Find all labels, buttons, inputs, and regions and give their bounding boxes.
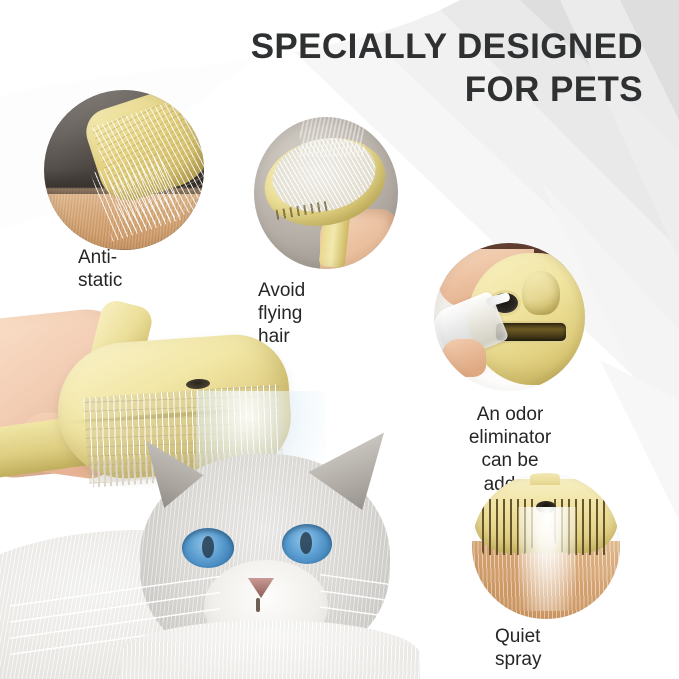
- hero-cat: [0, 420, 470, 679]
- feature-quiet-spray-caption: Quiet spray: [495, 625, 541, 671]
- feature-quiet-spray-image: [472, 473, 620, 619]
- page-title: SPECIALLY DESIGNED FOR PETS: [251, 26, 643, 111]
- feature-anti-static-image: [44, 90, 204, 250]
- cat-chest-fluff: [120, 620, 420, 679]
- cat-eye-left-pupil: [202, 536, 214, 558]
- quiet-spray-vignette: [472, 473, 620, 619]
- feature-avoid-flying-hair-image: [254, 117, 398, 269]
- flying-hair-vignette: [254, 117, 398, 269]
- anti-static-vignette: [44, 90, 204, 250]
- product-feature-graphic: SPECIALLY DESIGNED FOR PETS Anti-static: [0, 0, 679, 679]
- cat-mouth: [256, 598, 260, 612]
- page-title-line-2: FOR PETS: [251, 69, 643, 112]
- page-title-line-1: SPECIALLY DESIGNED: [251, 26, 643, 69]
- feature-anti-static-caption: Anti-static: [78, 246, 122, 292]
- cat-eye-right-pupil: [300, 532, 312, 554]
